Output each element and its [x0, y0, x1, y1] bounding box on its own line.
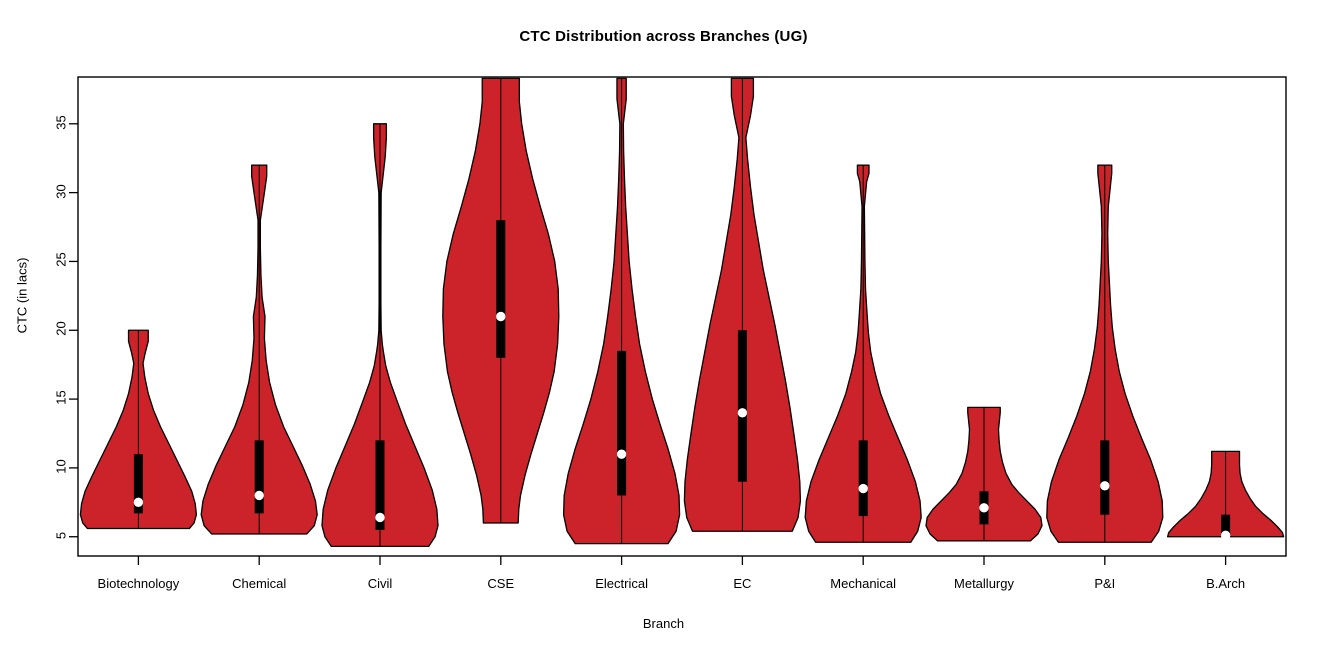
chart-canvas	[0, 0, 1327, 653]
y-tick-label: 10	[54, 446, 69, 486]
median-marker-b-arch	[1221, 531, 1229, 539]
iqr-box-cse	[496, 220, 505, 358]
median-marker-mechanical	[859, 484, 867, 492]
median-marker-metallurgy	[980, 504, 988, 512]
y-tick-label: 30	[54, 171, 69, 211]
median-marker-chemical	[255, 491, 263, 499]
iqr-box-mechanical	[859, 440, 868, 516]
y-tick-label: 25	[54, 240, 69, 280]
y-tick-label: 20	[54, 309, 69, 349]
iqr-box-chemical	[255, 440, 264, 513]
violin-group	[80, 78, 1283, 546]
iqr-box-ec	[738, 330, 747, 481]
median-marker-electrical	[617, 450, 625, 458]
median-marker-ec	[738, 409, 746, 417]
median-marker-biotechnology	[134, 498, 142, 506]
median-marker-cse	[497, 312, 505, 320]
y-tick-label: 35	[54, 102, 69, 142]
x-tick-label-b-arch: B.Arch	[1126, 576, 1326, 591]
iqr-box-electrical	[617, 351, 626, 496]
median-marker-p-i	[1101, 482, 1109, 490]
y-tick-label: 15	[54, 378, 69, 418]
violin-plot-figure: CTC Distribution across Branches (UG) CT…	[0, 0, 1327, 653]
median-marker-civil	[376, 513, 384, 521]
iqr-box-p-i	[1100, 440, 1109, 514]
y-tick-label: 5	[54, 515, 69, 555]
